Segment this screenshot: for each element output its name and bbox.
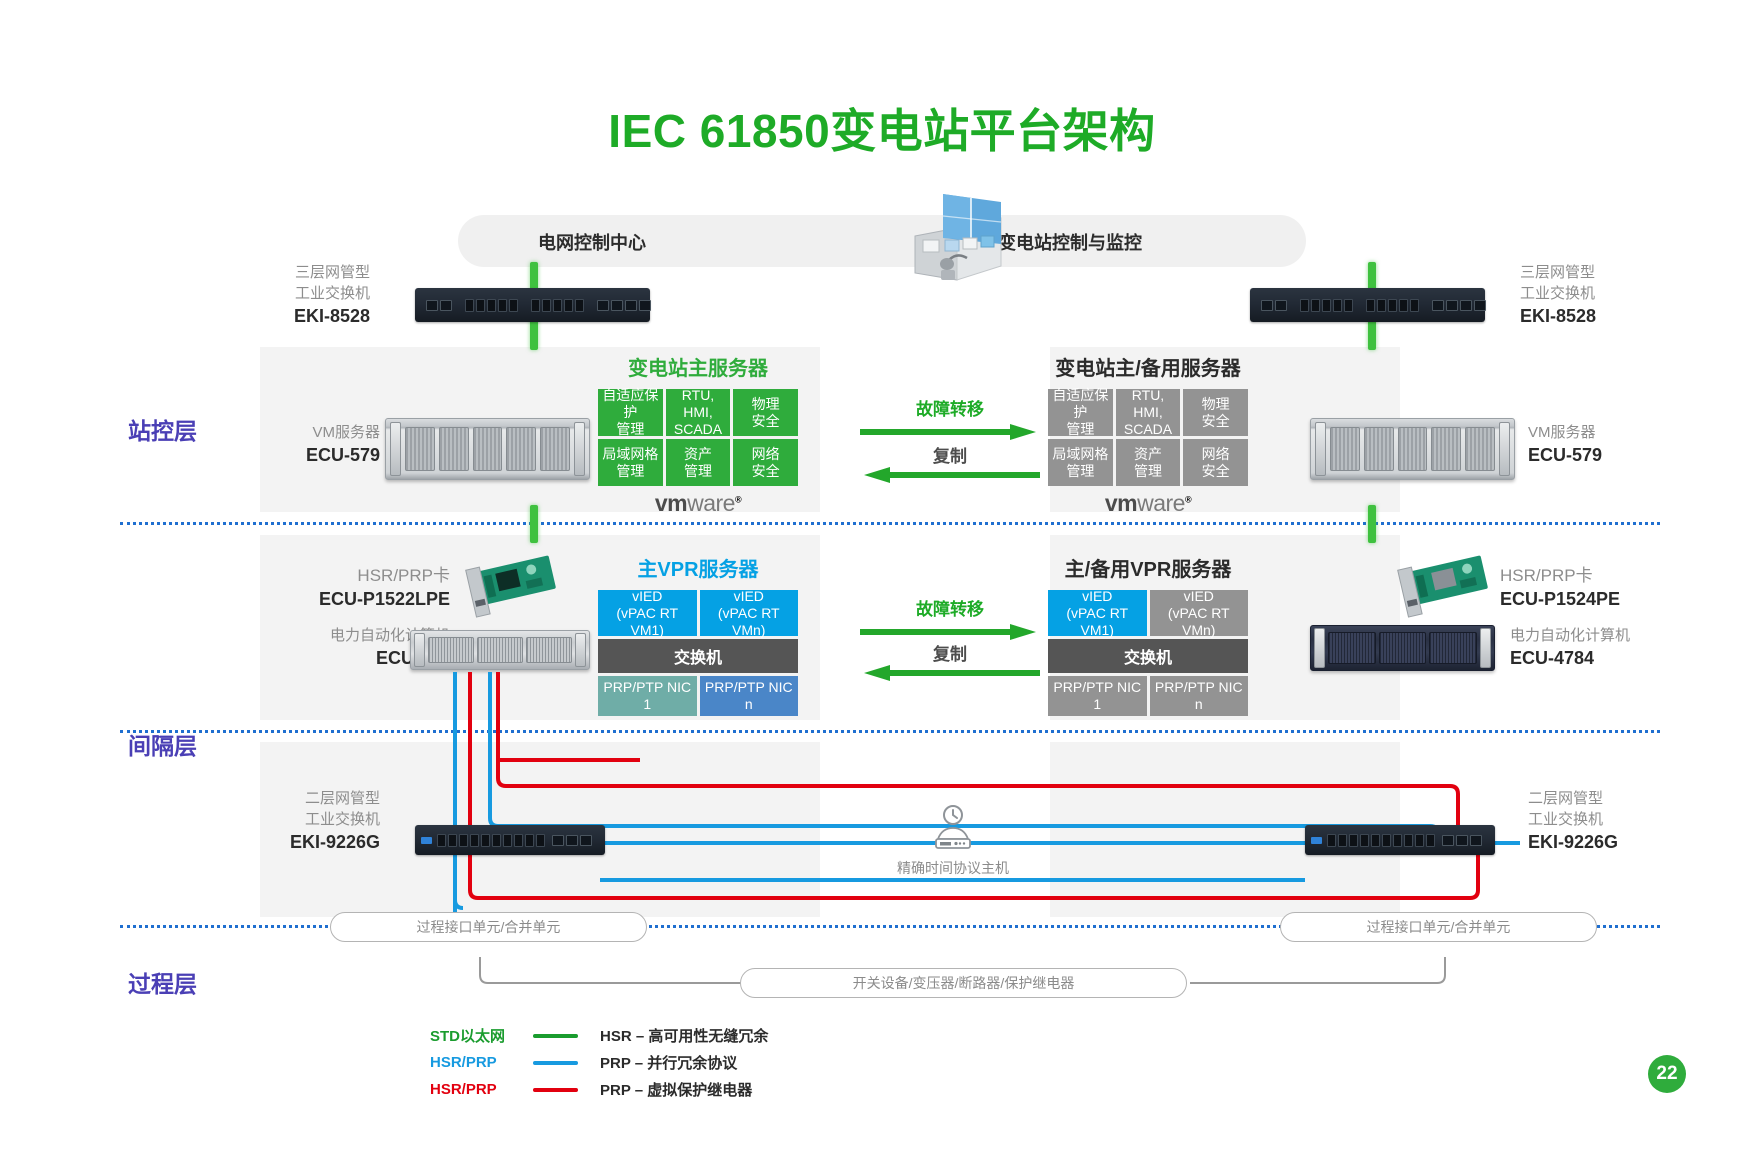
switch-l3-right-device — [1250, 288, 1485, 322]
station-left-cell-1: RTU, HMI,SCADA — [666, 389, 731, 436]
hsr-card-right-model: ECU-P1524PE — [1500, 589, 1670, 610]
switch-l3-left-desc1: 三层网管型 — [295, 264, 370, 281]
switch-l2-right-label: 二层网管型 工业交换机 EKI-9226G — [1528, 788, 1678, 853]
layer-label-bay: 间隔层 — [128, 727, 197, 761]
legend-line-1 — [533, 1061, 578, 1065]
station-right-cell-1: RTU, HMI,SCADA — [1116, 389, 1181, 436]
ptp-host-label: 精确时间协议主机 — [828, 858, 1078, 878]
vm-server-right-model: ECU-579 — [1528, 445, 1658, 466]
bay-left-nic-1: PRP/PTP NIC 1 — [598, 676, 697, 716]
separator-bay-process — [120, 730, 1660, 733]
station-right-cell-2: 物理安全 — [1183, 389, 1248, 436]
page-number-badge: 22 — [1648, 1055, 1686, 1093]
legend-row-0: STD以太网 HSR – 高可用性无缝冗余 — [430, 1022, 768, 1049]
switch-l2-right-device — [1305, 825, 1495, 855]
pac-right-model: ECU-4784 — [1510, 648, 1710, 669]
legend-desc-1: PRP – 并行冗余协议 — [600, 1052, 737, 1073]
legend-desc-0: HSR – 高可用性无缝冗余 — [600, 1025, 768, 1046]
station-right-cell-5: 网络安全 — [1183, 439, 1248, 486]
bay-left-nic-n: PRP/PTP NIC n — [700, 676, 799, 716]
station-failover-arrow — [860, 422, 1040, 438]
bay-panel-right-title: 主/备用VPR服务器 — [1048, 553, 1248, 582]
station-left-cell-0: 自适应保护管理 — [598, 389, 663, 436]
substation-control-label: 变电站控制与监控 — [998, 229, 1142, 255]
bay-left-switch-bar: 交换机 — [598, 639, 798, 673]
vm-server-right-label: VM服务器 ECU-579 — [1528, 422, 1658, 466]
bay-failover-arrow — [860, 622, 1040, 638]
legend-name-0: STD以太网 — [430, 1025, 525, 1046]
bay-panel-right: 主/备用VPR服务器 vIED(vPAC RT VM1) vIED(vPAC R… — [1048, 553, 1248, 716]
bay-right-switch-bar: 交换机 — [1048, 639, 1248, 673]
hsr-card-left-desc: HSR/PRP卡 — [357, 566, 450, 585]
green-link-left-station-to-bay — [530, 505, 538, 543]
vm-server-right-device — [1310, 418, 1515, 480]
pac-right-desc: 电力自动化计算机 — [1510, 627, 1630, 644]
page-title: IEC 61850变电站平台架构 — [0, 95, 1764, 161]
switch-l3-left-label: 三层网管型 工业交换机 EKI-8528 — [240, 262, 370, 327]
station-replicate-arrow — [860, 468, 1040, 484]
switch-l2-left-device — [415, 825, 605, 855]
switch-l3-left-desc2: 工业交换机 — [295, 285, 370, 302]
legend: STD以太网 HSR – 高可用性无缝冗余 HSR/PRP PRP – 并行冗余… — [430, 1022, 768, 1103]
switch-l2-right-model: EKI-9226G — [1528, 832, 1678, 853]
station-left-cell-2: 物理安全 — [733, 389, 798, 436]
process-interface-unit-right: 过程接口单元/合并单元 — [1280, 912, 1597, 942]
station-right-cell-3: 局域网格管理 — [1048, 439, 1113, 486]
pac-right-label: 电力自动化计算机 ECU-4784 — [1510, 625, 1710, 669]
vmware-logo-right: vmware® — [1048, 490, 1248, 517]
legend-row-1: HSR/PRP PRP – 并行冗余协议 — [430, 1049, 768, 1076]
switch-l2-right-desc2: 工业交换机 — [1528, 811, 1603, 828]
station-panel-right: 变电站主/备用服务器 自适应保护管理 RTU, HMI,SCADA 物理安全 局… — [1048, 352, 1248, 517]
legend-row-2: HSR/PRP PRP – 虚拟保护继电器 — [430, 1076, 768, 1103]
bay-right-vied-n: vIED(vPAC RT VMn) — [1150, 590, 1249, 636]
legend-line-2 — [533, 1088, 578, 1092]
bay-left-vied-n: vIED(vPAC RT VMn) — [700, 590, 799, 636]
switch-l2-left-label: 二层网管型 工业交换机 EKI-9226G — [250, 788, 380, 853]
station-replicate-label: 复制 — [880, 442, 1020, 467]
switch-l3-right-desc1: 三层网管型 — [1520, 264, 1595, 281]
bay-panel-left-title: 主VPR服务器 — [598, 553, 798, 582]
bay-panel-left: 主VPR服务器 vIED(vPAC RT VM1) vIED(vPAC RT V… — [598, 553, 798, 716]
station-right-cell-4: 资产管理 — [1116, 439, 1181, 486]
legend-name-2: HSR/PRP — [430, 1081, 525, 1098]
bay-failover-label: 故障转移 — [880, 595, 1020, 620]
legend-desc-2: PRP – 虚拟保护继电器 — [600, 1079, 752, 1100]
hsr-card-left-model: ECU-P1522LPE — [300, 589, 450, 610]
station-panel-right-title: 变电站主/备用服务器 — [1048, 352, 1248, 381]
hsr-card-right-label: HSR/PRP卡 ECU-P1524PE — [1500, 565, 1670, 610]
separator-station-bay — [120, 522, 1660, 525]
switch-l2-right-desc1: 二层网管型 — [1528, 790, 1603, 807]
switch-l2-left-desc2: 工业交换机 — [305, 811, 380, 828]
bay-right-nic-n: PRP/PTP NIC n — [1150, 676, 1249, 716]
switch-l3-left-device — [415, 288, 650, 322]
switch-l2-left-desc1: 二层网管型 — [305, 790, 380, 807]
switch-l3-right-desc2: 工业交换机 — [1520, 285, 1595, 302]
bay-replicate-arrow — [860, 666, 1040, 682]
control-room-illustration — [905, 188, 1015, 283]
legend-line-0 — [533, 1034, 578, 1038]
bay-replicate-label: 复制 — [880, 640, 1020, 665]
hsr-prp-card-right-image — [1395, 549, 1494, 620]
switch-l3-left-model: EKI-8528 — [240, 306, 370, 327]
primary-equipment: 开关设备/变压器/断路器/保护继电器 — [740, 968, 1187, 998]
station-left-cell-5: 网络安全 — [733, 439, 798, 486]
station-panel-left: 变电站主服务器 自适应保护管理 RTU, HMI,SCADA 物理安全 局域网格… — [598, 352, 798, 517]
legend-name-1: HSR/PRP — [430, 1054, 525, 1071]
switch-l3-right-model: EKI-8528 — [1520, 306, 1670, 327]
pac-left-device — [410, 630, 590, 670]
station-left-cell-3: 局域网格管理 — [598, 439, 663, 486]
station-left-cell-4: 资产管理 — [666, 439, 731, 486]
switch-l3-right-label: 三层网管型 工业交换机 EKI-8528 — [1520, 262, 1670, 327]
switch-l2-left-model: EKI-9226G — [250, 832, 380, 853]
hsr-card-right-desc: HSR/PRP卡 — [1500, 566, 1593, 585]
layer-label-station: 站控层 — [128, 412, 197, 446]
vm-server-right-desc: VM服务器 — [1528, 424, 1596, 441]
vm-server-left-label: VM服务器 ECU-579 — [250, 422, 380, 466]
pac-right-device — [1310, 625, 1495, 671]
vm-server-left-desc: VM服务器 — [312, 424, 380, 441]
grid-control-center-label: 电网控制中心 — [538, 229, 646, 255]
hsr-card-left-label: HSR/PRP卡 ECU-P1522LPE — [300, 565, 450, 610]
station-failover-label: 故障转移 — [880, 395, 1020, 420]
bay-left-vied-1: vIED(vPAC RT VM1) — [598, 590, 697, 636]
bay-right-vied-1: vIED(vPAC RT VM1) — [1048, 590, 1147, 636]
vmware-logo-left: vmware® — [598, 490, 798, 517]
ptp-clock-icon — [930, 805, 976, 857]
top-control-bar: 电网控制中心 变电站控制与监控 — [458, 215, 1306, 267]
station-right-cell-0: 自适应保护管理 — [1048, 389, 1113, 436]
layer-label-process: 过程层 — [128, 965, 197, 999]
process-interface-unit-left: 过程接口单元/合并单元 — [330, 912, 647, 942]
vm-server-left-model: ECU-579 — [250, 445, 380, 466]
station-panel-left-title: 变电站主服务器 — [598, 352, 798, 381]
green-link-right-station-to-bay — [1368, 505, 1376, 543]
bay-right-nic-1: PRP/PTP NIC 1 — [1048, 676, 1147, 716]
vm-server-left-device — [385, 418, 590, 480]
